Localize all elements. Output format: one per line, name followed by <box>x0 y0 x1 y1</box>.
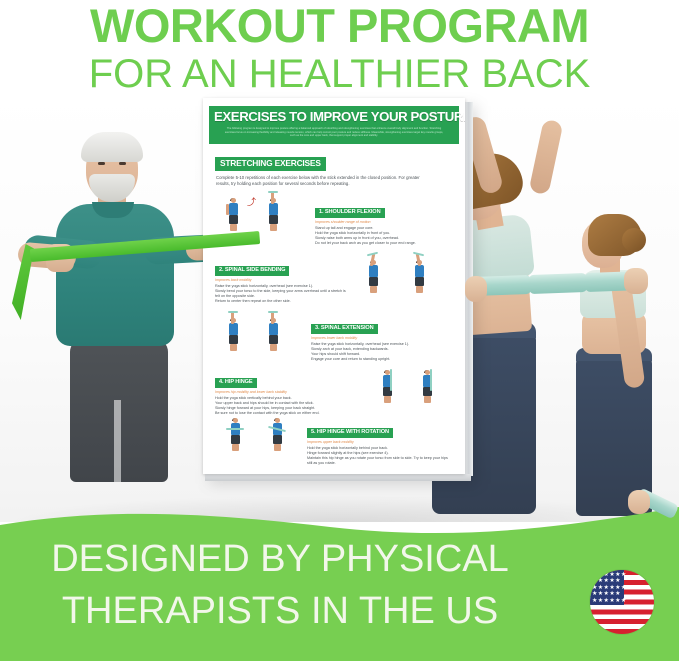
poster-title: EXERCISES TO IMPROVE YOUR POSTURE <box>214 110 454 124</box>
exercise-3-cue: Improves lower back mobility <box>311 336 453 341</box>
woman-behind-back-figure <box>560 214 679 514</box>
exercise-3-title: 3. SPINAL EXTENSION <box>311 324 378 334</box>
senior-man-figure <box>18 132 208 482</box>
exercise-5-figure-a <box>227 418 243 458</box>
exercise-4-figure-a <box>379 364 395 406</box>
woman-a-right-arm <box>529 119 564 196</box>
man-shirt <box>56 204 174 346</box>
exercise-1-motion-arrow: ⤴ <box>247 198 256 207</box>
exercise-4-body: Hold the yoga stick vertically behind yo… <box>215 396 365 416</box>
bottom-green-band: DESIGNED BY PHYSICAL THERAPISTS IN THE U… <box>0 503 679 661</box>
exercise-1-figure-a <box>225 198 241 234</box>
exercise-4: 4. HIP HINGE Improves hip mobility and l… <box>215 370 365 416</box>
poster-bottom-edge <box>205 474 471 481</box>
exercise-1: 1. SHOULDER FLEXION Improves shoulder ra… <box>315 200 455 246</box>
exercise-5: 5. HIP HINGE WITH ROTATION Improves uppe… <box>307 420 453 466</box>
exercise-2-body: Raise the yoga stick horizontally, overh… <box>215 284 350 304</box>
united-states-flag-icon: ★★★★★★★★★★★★★★★★★★★★★★★★★★★★ <box>590 570 654 634</box>
man-beard <box>89 174 135 202</box>
exercise-4-figure-b <box>419 364 435 406</box>
poster: EXERCISES TO IMPROVE YOUR POSTURE The fo… <box>203 98 471 480</box>
flag-stars: ★★★★★★★★★★★★★★★★★★★★★★★★★★★★ <box>590 570 624 605</box>
exercise-2: 2. SPINAL SIDE BENDING Improves back mob… <box>215 258 350 304</box>
man-hair <box>81 132 143 162</box>
bottom-line-1: DESIGNED BY PHYSICAL <box>0 533 560 585</box>
headline-line-1: WORKOUT PROGRAM <box>0 2 679 50</box>
man-pants-gap <box>114 400 121 482</box>
exercise-3-figure-a <box>225 312 241 354</box>
exercise-4-title: 4. HIP HINGE <box>215 378 257 388</box>
poster-intro-paragraph: The following program is designed to imp… <box>214 124 454 139</box>
man-left-eye <box>98 162 105 165</box>
woman-b-hand <box>628 490 650 514</box>
section-heading-stretching: STRETCHING EXERCISES <box>215 157 326 171</box>
exercise-3: 3. SPINAL EXTENSION Improves lower back … <box>311 316 453 362</box>
poster-title-bar: EXERCISES TO IMPROVE YOUR POSTURE The fo… <box>209 106 459 144</box>
product-photo-scene: EXERCISES TO IMPROVE YOUR POSTURE The fo… <box>0 92 679 522</box>
exercise-2-title: 2. SPINAL SIDE BENDING <box>215 266 289 276</box>
headline-line-2: FOR AN HEALTHIER BACK <box>0 52 679 96</box>
bottom-tagline: DESIGNED BY PHYSICAL THERAPISTS IN THE U… <box>0 533 560 637</box>
exercise-4-cue: Improves hip mobility and lower back sta… <box>215 390 365 395</box>
exercise-5-figure-b <box>269 418 285 458</box>
exercise-1-figure-b <box>265 192 281 234</box>
exercise-5-cue: Improves upper back mobility <box>307 440 453 445</box>
woman-a-right-hand <box>624 268 648 294</box>
poster-face: EXERCISES TO IMPROVE YOUR POSTURE The fo… <box>203 98 465 474</box>
woman-a-left-hand <box>465 276 487 302</box>
exercise-2-figure-b <box>411 254 427 296</box>
exercise-2-figure-a <box>365 254 381 296</box>
bottom-line-2: THERAPISTS IN THE US <box>0 585 560 637</box>
man-right-eye <box>119 162 126 165</box>
exercise-1-body: Stand up tall and engage your core. Hold… <box>315 226 455 246</box>
exercise-1-title: 1. SHOULDER FLEXION <box>315 208 385 218</box>
exercise-2-cue: Improves back mobility <box>215 278 350 283</box>
woman-b-hair-bun <box>622 228 646 252</box>
exercise-3-body: Raise the yoga stick horizontally, overh… <box>311 342 453 362</box>
exercise-3-figure-b <box>265 312 281 354</box>
headline-block: WORKOUT PROGRAM FOR AN HEALTHIER BACK <box>0 0 679 96</box>
section-subtext: Complete 5-10 repetitions of each exerci… <box>216 175 434 187</box>
exercise-5-body: Hold the yoga stick horizontally behind … <box>307 446 453 466</box>
stretching-section: STRETCHING EXERCISES <box>215 153 465 171</box>
exercise-5-title: 5. HIP HINGE WITH ROTATION <box>307 428 393 438</box>
product-infographic: WORKOUT PROGRAM FOR AN HEALTHIER BACK <box>0 0 679 661</box>
exercise-1-cue: Improves shoulder range of motion <box>315 220 455 225</box>
